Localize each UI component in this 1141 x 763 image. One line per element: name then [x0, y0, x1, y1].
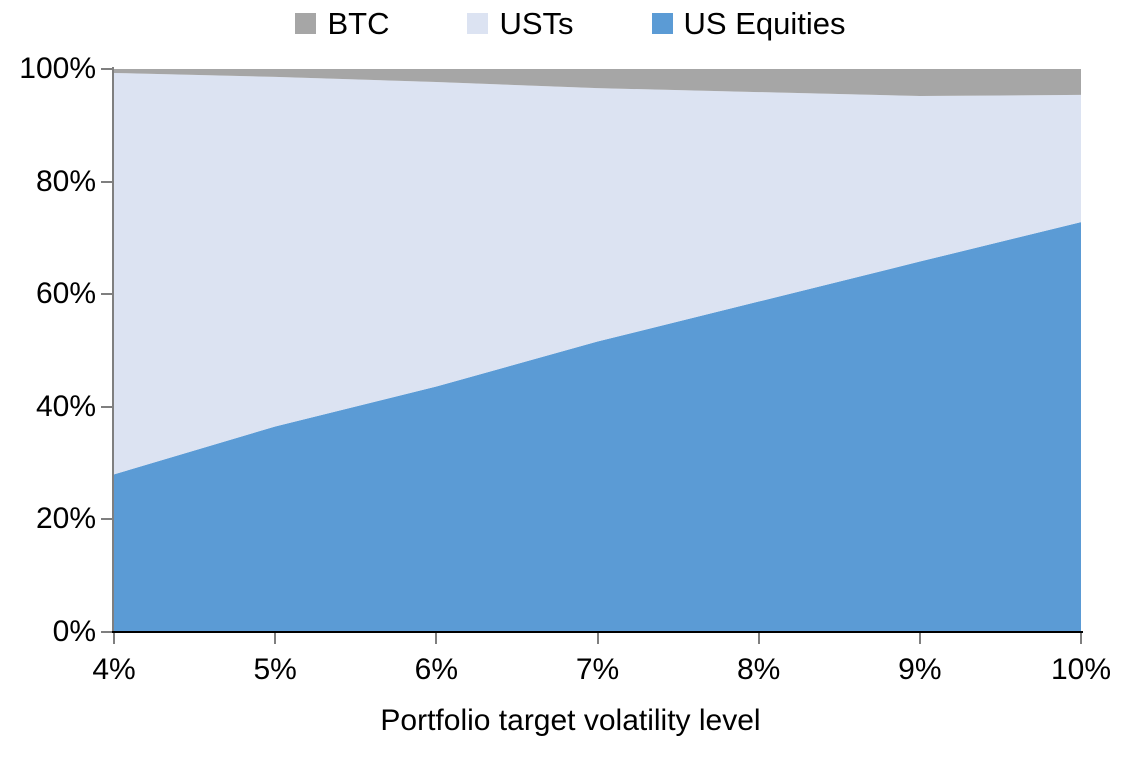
legend-item-btc: BTC	[295, 8, 389, 39]
legend-swatch-btc	[295, 13, 316, 34]
x-axis-tick	[919, 633, 921, 644]
legend-label-usts: USTs	[499, 8, 573, 39]
y-axis-label: 0%	[0, 617, 96, 647]
x-axis-label: 7%	[538, 655, 658, 685]
y-axis-tick	[101, 631, 112, 633]
y-axis-tick	[101, 518, 112, 520]
y-axis-tick	[101, 68, 112, 70]
y-axis-label: 20%	[0, 504, 96, 534]
x-axis-tick	[113, 633, 115, 644]
y-axis-tick	[101, 406, 112, 408]
y-axis-label: 100%	[0, 54, 96, 84]
x-axis-label: 9%	[860, 655, 980, 685]
plot-area	[114, 69, 1081, 632]
x-axis-tick	[435, 633, 437, 644]
y-axis-label: 60%	[0, 279, 96, 309]
x-axis-title: Portfolio target volatility level	[0, 706, 1141, 736]
y-axis-tick	[101, 293, 112, 295]
legend-label-us-equities: US Equities	[684, 8, 846, 39]
x-axis-tick	[274, 633, 276, 644]
x-axis-label: 5%	[215, 655, 335, 685]
legend-swatch-us-equities	[652, 13, 673, 34]
stacked-area-chart: BTC USTs US Equities 0%20%40%60%80%100% …	[0, 0, 1141, 763]
y-axis-line	[112, 67, 114, 633]
legend-item-usts: USTs	[467, 8, 573, 39]
x-axis-label: 4%	[54, 655, 174, 685]
x-axis-label: 8%	[699, 655, 819, 685]
x-axis-tick	[597, 633, 599, 644]
area-series-group	[114, 69, 1081, 632]
x-axis-tick	[1080, 633, 1082, 644]
legend-item-us-equities: US Equities	[652, 8, 846, 39]
legend-label-btc: BTC	[327, 8, 389, 39]
chart-legend: BTC USTs US Equities	[0, 8, 1141, 39]
x-axis-label: 6%	[376, 655, 496, 685]
y-axis-label: 40%	[0, 392, 96, 422]
x-axis-tick	[758, 633, 760, 644]
x-axis-label: 10%	[1021, 655, 1141, 685]
y-axis-label: 80%	[0, 167, 96, 197]
y-axis-tick	[101, 181, 112, 183]
legend-swatch-usts	[467, 13, 488, 34]
